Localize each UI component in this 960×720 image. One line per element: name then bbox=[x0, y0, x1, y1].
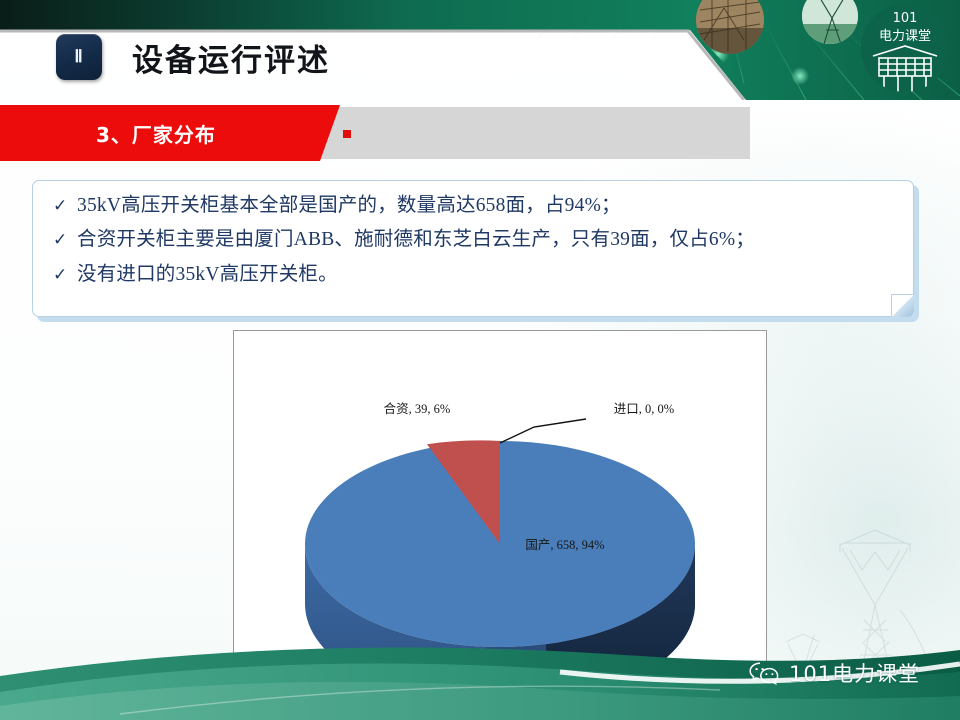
check-icon: ✓ bbox=[53, 266, 77, 283]
red-square-bullet-icon bbox=[343, 130, 351, 138]
section-banner: 3、厂家分布 bbox=[0, 105, 340, 161]
pie-chart: 合资, 39, 6% 进口, 0, 0% 国产, 658, 94% bbox=[234, 331, 766, 669]
pie-label-joint-venture: 合资, 39, 6% bbox=[384, 401, 451, 416]
check-icon: ✓ bbox=[53, 197, 77, 214]
header-photo-pylon bbox=[802, 0, 858, 44]
check-icon: ✓ bbox=[53, 231, 77, 248]
pie-chart-panel: 合资, 39, 6% 进口, 0, 0% 国产, 658, 94% bbox=[233, 330, 767, 670]
watermark: 101电力课堂 bbox=[748, 658, 920, 688]
section-label: 3、厂家分布 bbox=[96, 119, 216, 148]
brand-seal-logo: 101 电力课堂 bbox=[861, 4, 949, 92]
bullet-text: 35kV高压开关柜基本全部是国产的，数量高达658面，占94%； bbox=[77, 195, 621, 216]
title-badge: Ⅱ bbox=[56, 34, 102, 80]
page-fold-corner-icon bbox=[891, 294, 914, 317]
list-item: ✓ 35kV高压开关柜基本全部是国产的，数量高达658面，占94%； bbox=[53, 195, 895, 216]
pie-label-import: 进口, 0, 0% bbox=[614, 402, 674, 416]
bullet-text: 合资开关柜主要是由厦门ABB、施耐德和东芝白云生产，只有39面，仅占6%； bbox=[77, 229, 755, 250]
pie-leader-line bbox=[500, 419, 586, 443]
pylon-watermark-small-icon bbox=[768, 620, 838, 720]
pie-label-domestic: 国产, 658, 94% bbox=[525, 538, 604, 552]
list-item: ✓ 合资开关柜主要是由厦门ABB、施耐德和东芝白云生产，只有39面，仅占6%； bbox=[53, 229, 895, 250]
svg-text:101: 101 bbox=[893, 11, 918, 26]
svg-text:电力课堂: 电力课堂 bbox=[879, 29, 931, 44]
bullet-text: 没有进口的35kV高压开关柜。 bbox=[77, 264, 338, 285]
list-item: ✓ 没有进口的35kV高压开关柜。 bbox=[53, 264, 895, 285]
pylon-watermark-icon bbox=[800, 430, 950, 680]
bullet-textbox: ✓ 35kV高压开关柜基本全部是国产的，数量高达658面，占94%； ✓ 合资开… bbox=[32, 180, 914, 317]
slide-title-row: Ⅱ 设备运行评述 bbox=[0, 22, 700, 92]
page-title: 设备运行评述 bbox=[132, 35, 330, 80]
header-photo-blueprint bbox=[696, 0, 764, 56]
watermark-text: 101电力课堂 bbox=[789, 658, 920, 688]
bullet-list: ✓ 35kV高压开关柜基本全部是国产的，数量高达658面，占94%； ✓ 合资开… bbox=[33, 181, 913, 285]
slide-canvas: 101 电力课堂 Ⅱ 设备运行评述 3、厂家分布 bbox=[0, 0, 960, 720]
